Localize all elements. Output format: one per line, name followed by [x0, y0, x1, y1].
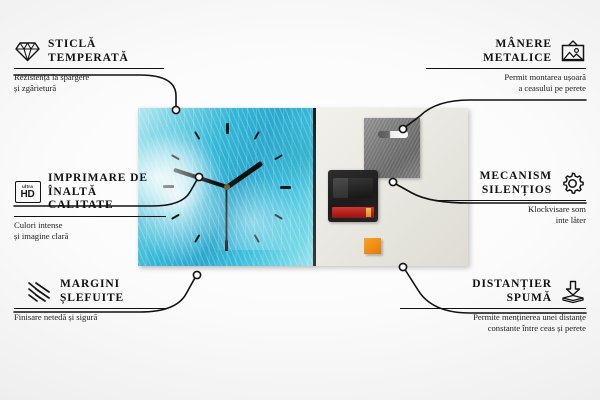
down-arrow-stack-icon [559, 279, 586, 304]
clock-tick [227, 186, 283, 220]
callout-subtitle: Finisare netedă și sigură [14, 312, 166, 323]
clock-tick [163, 186, 227, 188]
callout-subtitle: Permite menținerea unei distanțe constan… [400, 312, 586, 334]
clock-tick [226, 187, 228, 251]
callout-header: STICLĂ TEMPERATĂ [14, 38, 164, 65]
callout-subtitle: Culori intense și imagine clară [14, 220, 166, 242]
callout-high-quality-print: ultra HD IMPRIMARE DE ÎNALTĂ CALITATE Cu… [14, 172, 166, 242]
callout-title: MÂNERE METALICE [483, 38, 552, 65]
clock-center-hub [224, 184, 230, 190]
callout-header: ultra HD IMPRIMARE DE ÎNALTĂ CALITATE [14, 172, 166, 213]
callout-title: IMPRIMARE DE ÎNALTĂ CALITATE [48, 172, 166, 213]
mechanism-detail [333, 178, 373, 198]
callout-header: MARGINI ȘLEFUITE [26, 278, 166, 305]
callout-divider [14, 216, 166, 217]
battery [332, 207, 374, 218]
callout-divider [14, 308, 166, 309]
callout-header: MÂNERE METALICE [426, 38, 586, 65]
callout-divider [400, 308, 586, 309]
clock-mechanism [328, 170, 378, 222]
callout-polished-edges: MARGINI ȘLEFUITE Finisare netedă și sigu… [14, 278, 166, 323]
callout-subtitle: Permit montarea ușoară a ceasului pe per… [426, 72, 586, 94]
callout-silent-mechanism: MECANISM SILENȚIOS Klockvisare som inte … [436, 170, 586, 226]
infographic-canvas: STICLĂ TEMPERATĂ Rezistență la spargere … [0, 0, 600, 400]
callout-title: MARGINI ȘLEFUITE [60, 278, 124, 305]
callout-tempered-glass: STICLĂ TEMPERATĂ Rezistență la spargere … [14, 38, 164, 94]
hd-badge-main-text: HD [20, 190, 34, 200]
clock-tick [171, 154, 227, 188]
clock-tick [226, 123, 228, 187]
gear-icon [559, 171, 586, 196]
clock-hour-hand [226, 161, 263, 189]
mechanism-loop [342, 170, 362, 175]
callout-title: DISTANȚIER SPUMĂ [472, 278, 552, 305]
metal-hanger-plate [364, 118, 420, 178]
foam-spacer [364, 238, 381, 254]
diagonal-lines-icon [26, 279, 53, 304]
clock-tick [227, 186, 291, 188]
diamond-icon [14, 39, 41, 64]
product-photo [138, 108, 468, 268]
callout-divider [436, 200, 586, 201]
clock-tick [226, 131, 260, 187]
callout-foam-spacer: DISTANȚIER SPUMĂ Permite menținerea unei… [400, 278, 586, 334]
callout-divider [426, 68, 586, 69]
clock-second-hand [226, 187, 228, 247]
callout-title: MECANISM SILENȚIOS [480, 170, 552, 197]
callout-subtitle: Klockvisare som inte låter [436, 204, 586, 226]
clock-minute-hand [173, 168, 227, 189]
callout-metal-handles: MÂNERE METALICE Permit montarea ușoară a… [426, 38, 586, 94]
picture-frame-icon [559, 39, 586, 64]
clock-tick [194, 131, 228, 187]
clock-tick [194, 187, 228, 243]
ultra-hd-icon: ultra HD [14, 180, 41, 205]
callout-header: DISTANȚIER SPUMĂ [400, 278, 586, 305]
hanger-slot [378, 131, 408, 138]
leader-endpoint-edges [193, 271, 200, 278]
callout-divider [14, 68, 164, 69]
clock-tick [171, 186, 227, 220]
clock-tick [227, 154, 283, 188]
callout-header: MECANISM SILENȚIOS [436, 170, 586, 197]
clock-tick [226, 187, 260, 243]
callout-subtitle: Rezistență la spargere și zgârietură [14, 72, 164, 94]
callout-title: STICLĂ TEMPERATĂ [48, 38, 129, 65]
